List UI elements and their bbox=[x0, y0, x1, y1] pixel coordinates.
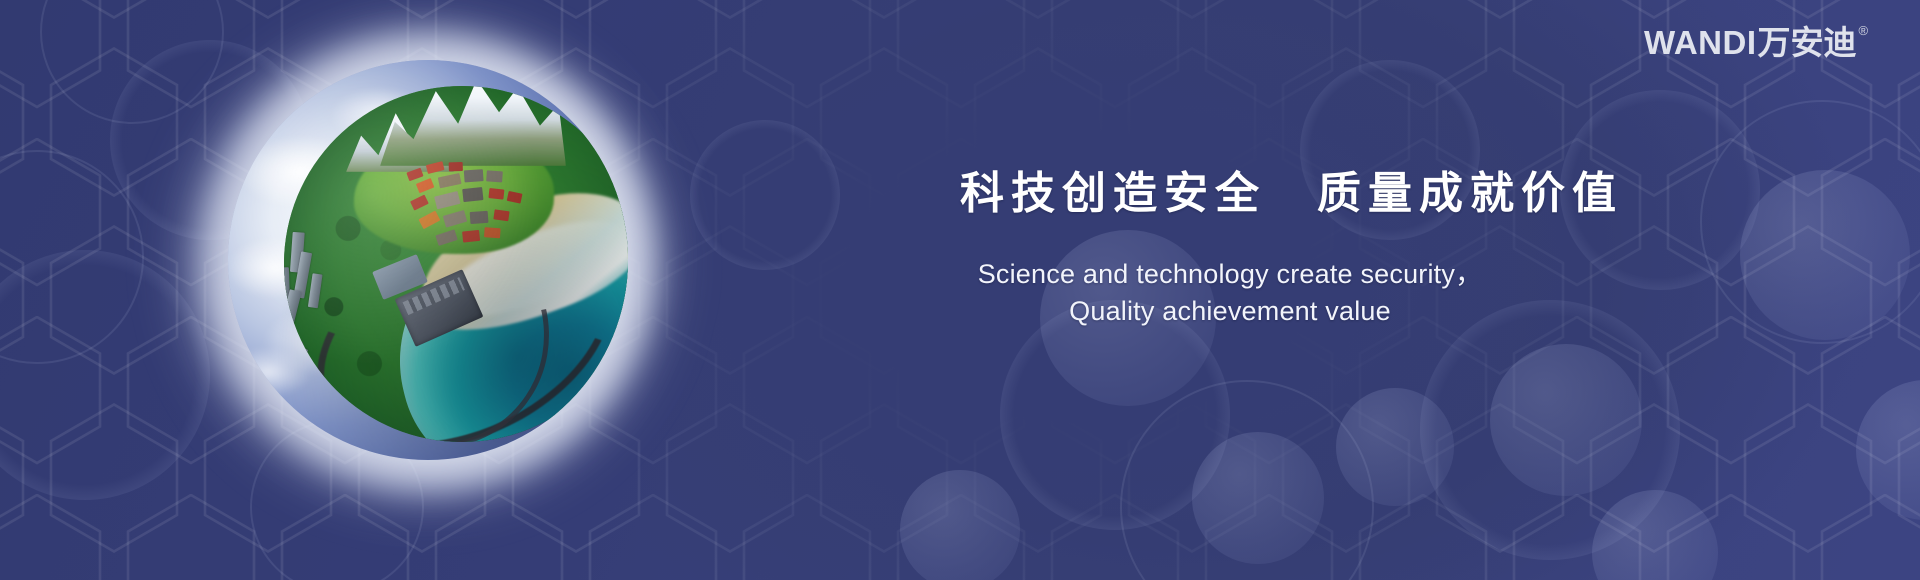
subtitle-line-2: Quality achievement value bbox=[860, 293, 1600, 330]
house-roof bbox=[464, 169, 484, 182]
house-roof bbox=[507, 191, 523, 204]
house-roof bbox=[462, 187, 483, 202]
registered-trademark-icon: ® bbox=[1859, 24, 1869, 37]
house-roof bbox=[406, 168, 423, 182]
subtitle-line-1: Science and technology create security， bbox=[860, 256, 1600, 293]
house-roof bbox=[438, 173, 462, 188]
page-subtitle: Science and technology create security， … bbox=[860, 256, 1600, 331]
logo-cjk-text: 万安迪 bbox=[1758, 26, 1857, 59]
house-roof bbox=[486, 170, 503, 182]
house-roof bbox=[416, 178, 435, 193]
house-roof bbox=[488, 188, 504, 200]
brand-logo[interactable]: WANDI 万安迪 ® bbox=[1644, 26, 1868, 59]
house-roof bbox=[493, 209, 509, 221]
house-roof bbox=[426, 161, 445, 174]
house-roof bbox=[449, 162, 463, 171]
tiny-planet-globe bbox=[228, 60, 628, 460]
hero-banner: 科技创造安全 质量成就价值 Science and technology cre… bbox=[0, 0, 1920, 580]
page-title: 科技创造安全 质量成就价值 bbox=[960, 172, 1623, 216]
globe-landmass bbox=[284, 86, 628, 442]
logo-latin-text: WANDI bbox=[1644, 26, 1757, 59]
globe-illustration bbox=[178, 8, 678, 528]
